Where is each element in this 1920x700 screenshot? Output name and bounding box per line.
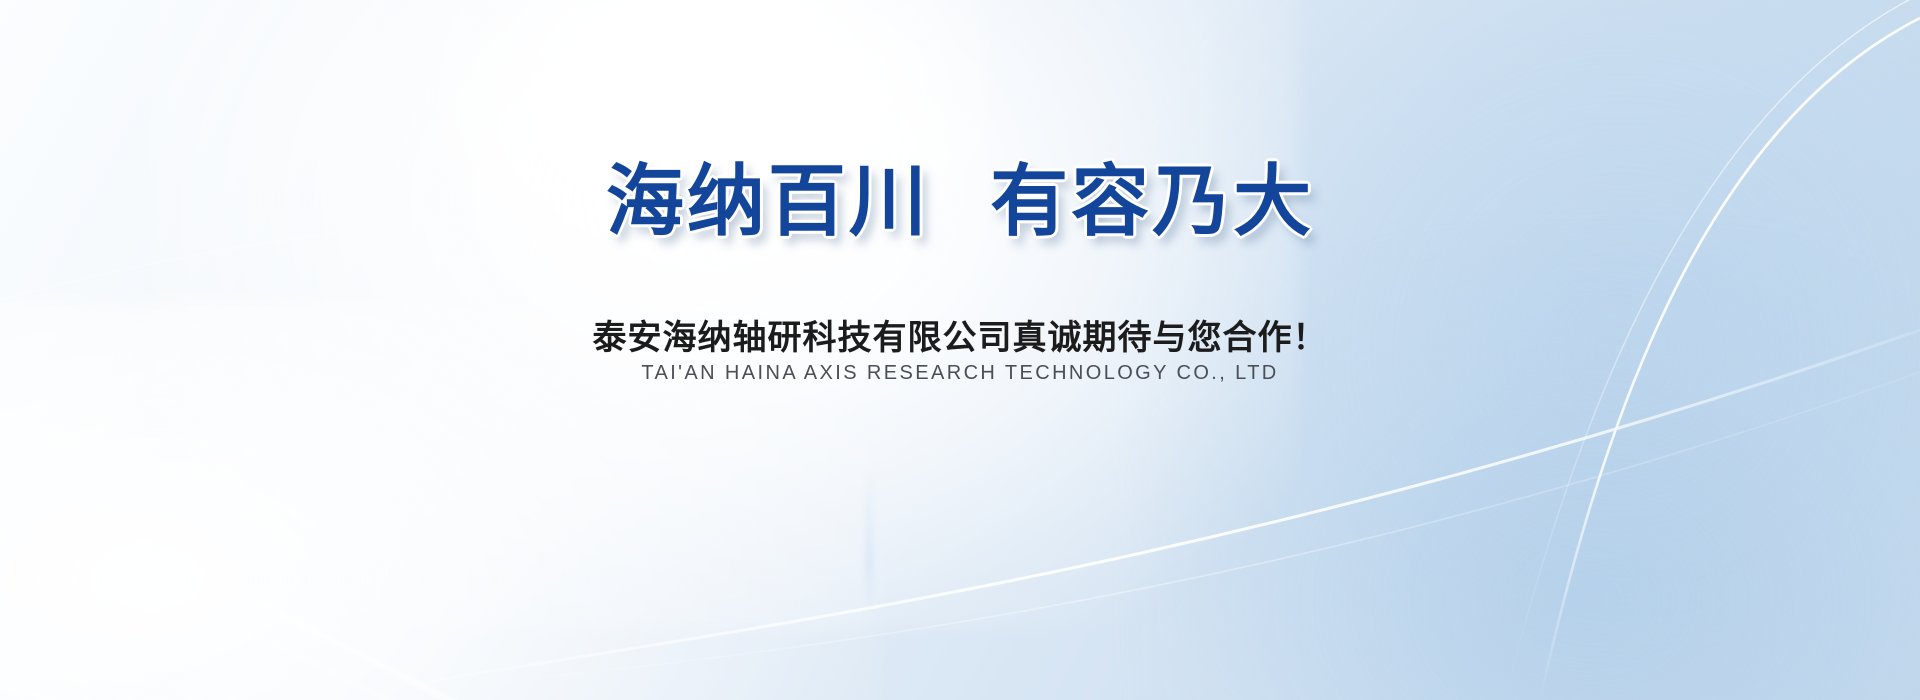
hero-banner: 海纳百川 有容乃大 泰安海纳轴研科技有限公司真诚期待与您合作！ TAI'AN H…: [0, 0, 1920, 700]
banner-content: 海纳百川 有容乃大 泰安海纳轴研科技有限公司真诚期待与您合作！ TAI'AN H…: [0, 0, 1920, 700]
banner-subtitle-chinese: 泰安海纳轴研科技有限公司真诚期待与您合作！: [0, 310, 1920, 359]
banner-headline: 海纳百川 有容乃大: [0, 162, 1920, 244]
banner-subtitle-english: TAI'AN HAINA AXIS RESEARCH TECHNOLOGY CO…: [0, 362, 1920, 385]
